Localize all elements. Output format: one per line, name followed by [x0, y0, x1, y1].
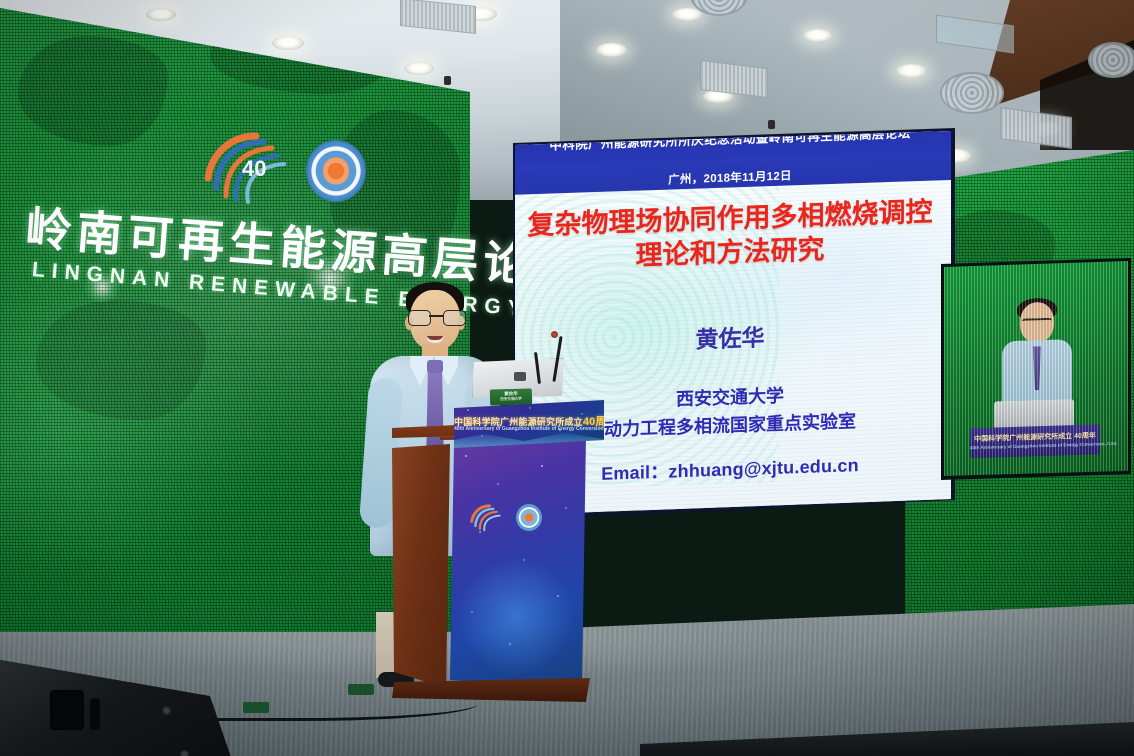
- live-feed-content: 中国科学院广州能源研究所成立 40周年 40th Anniversary of …: [944, 261, 1128, 476]
- slide-title: 复杂物理场协同作用多相燃烧调控理论和方法研究: [523, 194, 937, 276]
- downlight-3: [404, 62, 434, 75]
- microphone-head-icon: [551, 331, 558, 338]
- glasses-lens-left: [408, 310, 431, 326]
- lectern-base: [392, 678, 592, 702]
- lectern-side-panel: [392, 436, 450, 690]
- conference-stage-photo: 40 岭南可再生能源高层论坛 LINGNAN RENEWABLE ENERGY …: [0, 0, 1134, 756]
- live-feed-screen: 中国科学院广州能源研究所成立 40周年 40th Anniversary of …: [944, 261, 1128, 476]
- swirl-diffuser-3: [1088, 42, 1134, 78]
- sprinkler-head-1: [444, 76, 451, 85]
- speaker-port-2: [90, 698, 100, 730]
- institute-seal-logo: [306, 140, 366, 202]
- glasses-bridge: [429, 315, 443, 317]
- svg-text:40: 40: [242, 156, 266, 181]
- speaker-port-1: [50, 690, 84, 730]
- swirl-diffuser-2: [940, 72, 1004, 114]
- downlight-5: [596, 43, 627, 57]
- speaker-bolt-2: [180, 750, 189, 756]
- cable-tape-1: [243, 702, 269, 713]
- laptop-logo-icon: [514, 372, 526, 381]
- lectern-sign-english: 40th Anniversary of Guangzhou Institute …: [454, 426, 604, 432]
- downlight-9: [896, 64, 927, 78]
- lectern: 中国科学院广州能源研究所成立40周年 40th Anniversary of G…: [392, 396, 604, 706]
- cable-tape-2: [348, 684, 374, 695]
- sprinkler-head-2: [768, 120, 775, 129]
- speaker-glasses-icon: [408, 310, 464, 324]
- lectern-anniversary-40-logo: [468, 502, 502, 532]
- live-feed-scanlines: [944, 261, 1128, 476]
- world-map-silhouette-4: [36, 300, 206, 420]
- anniversary-40-logo: 40: [198, 126, 290, 206]
- lectern-sign: 中国科学院广州能源研究所成立40周年 40th Anniversary of G…: [454, 400, 604, 448]
- speaker-tie-knot: [427, 360, 443, 373]
- downlight-8: [803, 29, 832, 42]
- downlight-2: [272, 36, 304, 50]
- downlight-6: [672, 8, 702, 21]
- backdrop-logos: 40: [198, 126, 368, 212]
- world-map-silhouette-1: [18, 36, 168, 146]
- glasses-lens-right: [443, 310, 466, 326]
- lectern-glow: [456, 556, 576, 676]
- downlight-1: [146, 8, 176, 21]
- lectern-institute-seal-logo: [516, 504, 542, 531]
- lectern-front-panel: [446, 436, 586, 686]
- speaker-bolt-1: [162, 706, 171, 715]
